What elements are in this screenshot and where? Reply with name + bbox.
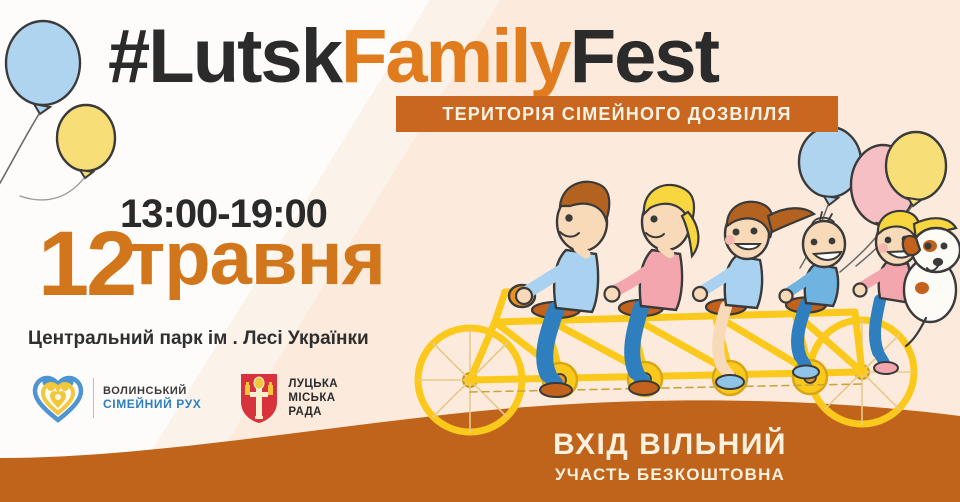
subtitle-text: ТЕРИТОРІЯ СІМЕЙНОГО ДОЗВІЛЛЯ xyxy=(396,96,838,132)
subtitle-banner: ТЕРИТОРІЯ СІМЕЙНОГО ДОЗВІЛЛЯ xyxy=(396,96,838,132)
balloon-yellow-left xyxy=(20,105,115,200)
free-entry-block: ВХІД ВІЛЬНИЙ УЧАСТЬ БЕЗКОШТОВНА xyxy=(500,428,840,485)
poster-root: #LutskFamilyFest ТЕРИТОРІЯ СІМЕЙНОГО ДОЗ… xyxy=(0,0,960,502)
title-part-lutsk: #Lutsk xyxy=(108,14,341,99)
event-day: 12 xyxy=(38,218,134,310)
logo-council-line1: ЛУЦЬКА xyxy=(288,377,338,391)
event-month: травня xyxy=(128,216,385,302)
poster-title: #LutskFamilyFest xyxy=(108,14,868,100)
logo-volyn-line2: СІМЕЙНИЙ РУХ xyxy=(103,398,201,411)
title-part-fest: Fest xyxy=(570,14,718,99)
logo-council-line2: МІСЬКА xyxy=(288,391,338,405)
event-venue: Центральний парк ім . Лесі Українки xyxy=(28,328,369,350)
title-block: #LutskFamilyFest xyxy=(108,14,868,100)
free-entry-sub: УЧАСТЬ БЕЗКОШТОВНА xyxy=(500,465,840,485)
lutsk-coat-of-arms-icon xyxy=(239,372,279,424)
family-heart-icon xyxy=(32,372,84,424)
logo-row: ВОЛИНСЬКИЙ СІМЕЙНИЙ РУХ ЛУЦЬКА МІСЬКА РА… xyxy=(32,372,338,424)
logo-council-text: ЛУЦЬКА МІСЬКА РАДА xyxy=(288,377,338,419)
free-entry-main: ВХІД ВІЛЬНИЙ xyxy=(500,428,840,462)
logo-divider xyxy=(93,378,94,418)
logo-volyn-family-movement: ВОЛИНСЬКИЙ СІМЕЙНИЙ РУХ xyxy=(32,372,201,424)
logo-volyn-text: ВОЛИНСЬКИЙ СІМЕЙНИЙ РУХ xyxy=(103,385,201,411)
dog-illustration xyxy=(903,228,960,346)
title-part-family: Family xyxy=(341,14,570,99)
logo-council-line3: РАДА xyxy=(288,405,338,419)
logo-lutsk-city-council: ЛУЦЬКА МІСЬКА РАДА xyxy=(239,372,338,424)
